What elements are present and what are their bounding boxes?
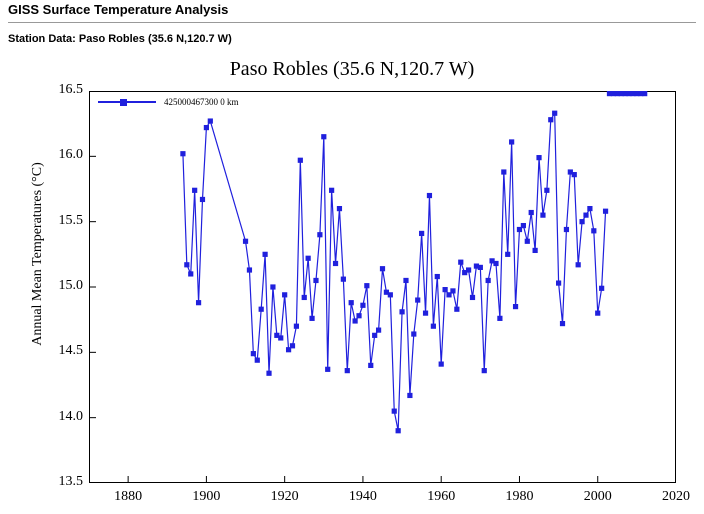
- data-point: [521, 223, 526, 228]
- data-point: [599, 286, 604, 291]
- data-point: [431, 324, 436, 329]
- data-point: [458, 260, 463, 265]
- data-point: [266, 371, 271, 376]
- y-tick-label: 14.0: [3, 409, 83, 425]
- station-subtitle: Station Data: Paso Robles (35.6 N,120.7 …: [8, 33, 232, 45]
- page-root: GISS Surface Temperature Analysis Statio…: [0, 0, 704, 514]
- data-point: [309, 316, 314, 321]
- data-point: [486, 278, 491, 283]
- data-point: [302, 295, 307, 300]
- y-axis-label: Annual Mean Temperatures (°C): [30, 74, 46, 434]
- data-point: [306, 256, 311, 261]
- data-point: [188, 271, 193, 276]
- data-point: [423, 311, 428, 316]
- data-point: [337, 206, 342, 211]
- data-point: [603, 209, 608, 214]
- y-tick-label: 15.0: [3, 278, 83, 294]
- temperature-chart: Paso Robles (35.6 N,120.7 W) Annual Mean…: [0, 50, 704, 514]
- data-point: [298, 158, 303, 163]
- data-point: [356, 313, 361, 318]
- data-point: [317, 232, 322, 237]
- data-point: [556, 280, 561, 285]
- data-point: [360, 303, 365, 308]
- x-tick-label: 2000: [568, 489, 628, 505]
- plot-canvas: [89, 91, 676, 483]
- data-point: [435, 274, 440, 279]
- data-point: [290, 343, 295, 348]
- data-point: [439, 361, 444, 366]
- data-point: [399, 309, 404, 314]
- data-point: [497, 316, 502, 321]
- data-point: [388, 292, 393, 297]
- data-point: [540, 213, 545, 218]
- data-point: [180, 151, 185, 156]
- header-divider: [8, 22, 696, 23]
- data-point: [313, 278, 318, 283]
- data-point: [407, 393, 412, 398]
- chart-title: Paso Robles (35.6 N,120.7 W): [0, 58, 704, 81]
- data-point: [509, 139, 514, 144]
- data-point: [427, 193, 432, 198]
- data-point: [294, 324, 299, 329]
- x-tick-label: 1940: [333, 489, 393, 505]
- data-point: [251, 351, 256, 356]
- data-point: [255, 358, 260, 363]
- data-point: [392, 409, 397, 414]
- data-point: [329, 188, 334, 193]
- data-point: [548, 117, 553, 122]
- data-point: [353, 318, 358, 323]
- data-point: [368, 363, 373, 368]
- data-point: [419, 231, 424, 236]
- data-point: [525, 239, 530, 244]
- data-point: [579, 219, 584, 224]
- data-point: [513, 304, 518, 309]
- data-point: [552, 111, 557, 116]
- data-point: [454, 307, 459, 312]
- data-point: [595, 311, 600, 316]
- y-tick-label: 14.5: [3, 343, 83, 359]
- data-point: [505, 252, 510, 257]
- data-point: [321, 134, 326, 139]
- data-point: [325, 367, 330, 372]
- chart-legend: 425000467300 0 km: [98, 94, 239, 110]
- data-point: [533, 248, 538, 253]
- data-point: [196, 300, 201, 305]
- data-point: [270, 284, 275, 289]
- x-tick-label: 1880: [98, 489, 158, 505]
- data-point: [208, 118, 213, 123]
- data-point: [544, 188, 549, 193]
- data-point: [282, 292, 287, 297]
- data-point: [576, 262, 581, 267]
- x-tick-label: 1980: [489, 489, 549, 505]
- data-point: [443, 287, 448, 292]
- data-point: [263, 252, 268, 257]
- data-point: [529, 210, 534, 215]
- data-point: [200, 197, 205, 202]
- page-title: GISS Surface Temperature Analysis: [8, 2, 228, 17]
- series-line: [183, 113, 606, 431]
- x-tick-label: 1960: [411, 489, 471, 505]
- data-point: [380, 266, 385, 271]
- data-point: [349, 300, 354, 305]
- legend-marker-icon: [120, 99, 127, 106]
- data-point: [341, 277, 346, 282]
- data-point: [560, 321, 565, 326]
- y-tick-label: 16.0: [3, 147, 83, 163]
- data-point: [364, 283, 369, 288]
- data-point: [572, 172, 577, 177]
- data-point: [372, 333, 377, 338]
- data-point: [536, 155, 541, 160]
- data-point: [493, 261, 498, 266]
- data-point: [411, 331, 416, 336]
- y-tick-label: 16.5: [3, 82, 83, 98]
- data-point: [247, 267, 252, 272]
- data-point: [478, 265, 483, 270]
- data-point: [345, 368, 350, 373]
- data-point: [376, 328, 381, 333]
- data-point: [184, 262, 189, 267]
- y-tick-label: 13.5: [3, 474, 83, 490]
- data-point: [192, 188, 197, 193]
- data-point: [204, 125, 209, 130]
- data-point: [415, 297, 420, 302]
- data-point: [501, 169, 506, 174]
- data-point: [564, 227, 569, 232]
- data-point: [278, 335, 283, 340]
- legend-label: 425000467300 0 km: [164, 97, 239, 107]
- data-point: [482, 368, 487, 373]
- legend-line-swatch: [98, 101, 156, 103]
- y-tick-label: 15.5: [3, 213, 83, 229]
- x-tick-label: 1900: [176, 489, 236, 505]
- data-point: [587, 206, 592, 211]
- x-tick-label: 1920: [255, 489, 315, 505]
- x-tick-label: 2020: [646, 489, 704, 505]
- data-point: [259, 307, 264, 312]
- data-point: [583, 213, 588, 218]
- data-point: [591, 228, 596, 233]
- data-point: [466, 267, 471, 272]
- data-point: [642, 91, 647, 96]
- data-point: [403, 278, 408, 283]
- data-point: [333, 261, 338, 266]
- data-point: [470, 295, 475, 300]
- data-point: [450, 288, 455, 293]
- data-point: [243, 239, 248, 244]
- data-point: [396, 428, 401, 433]
